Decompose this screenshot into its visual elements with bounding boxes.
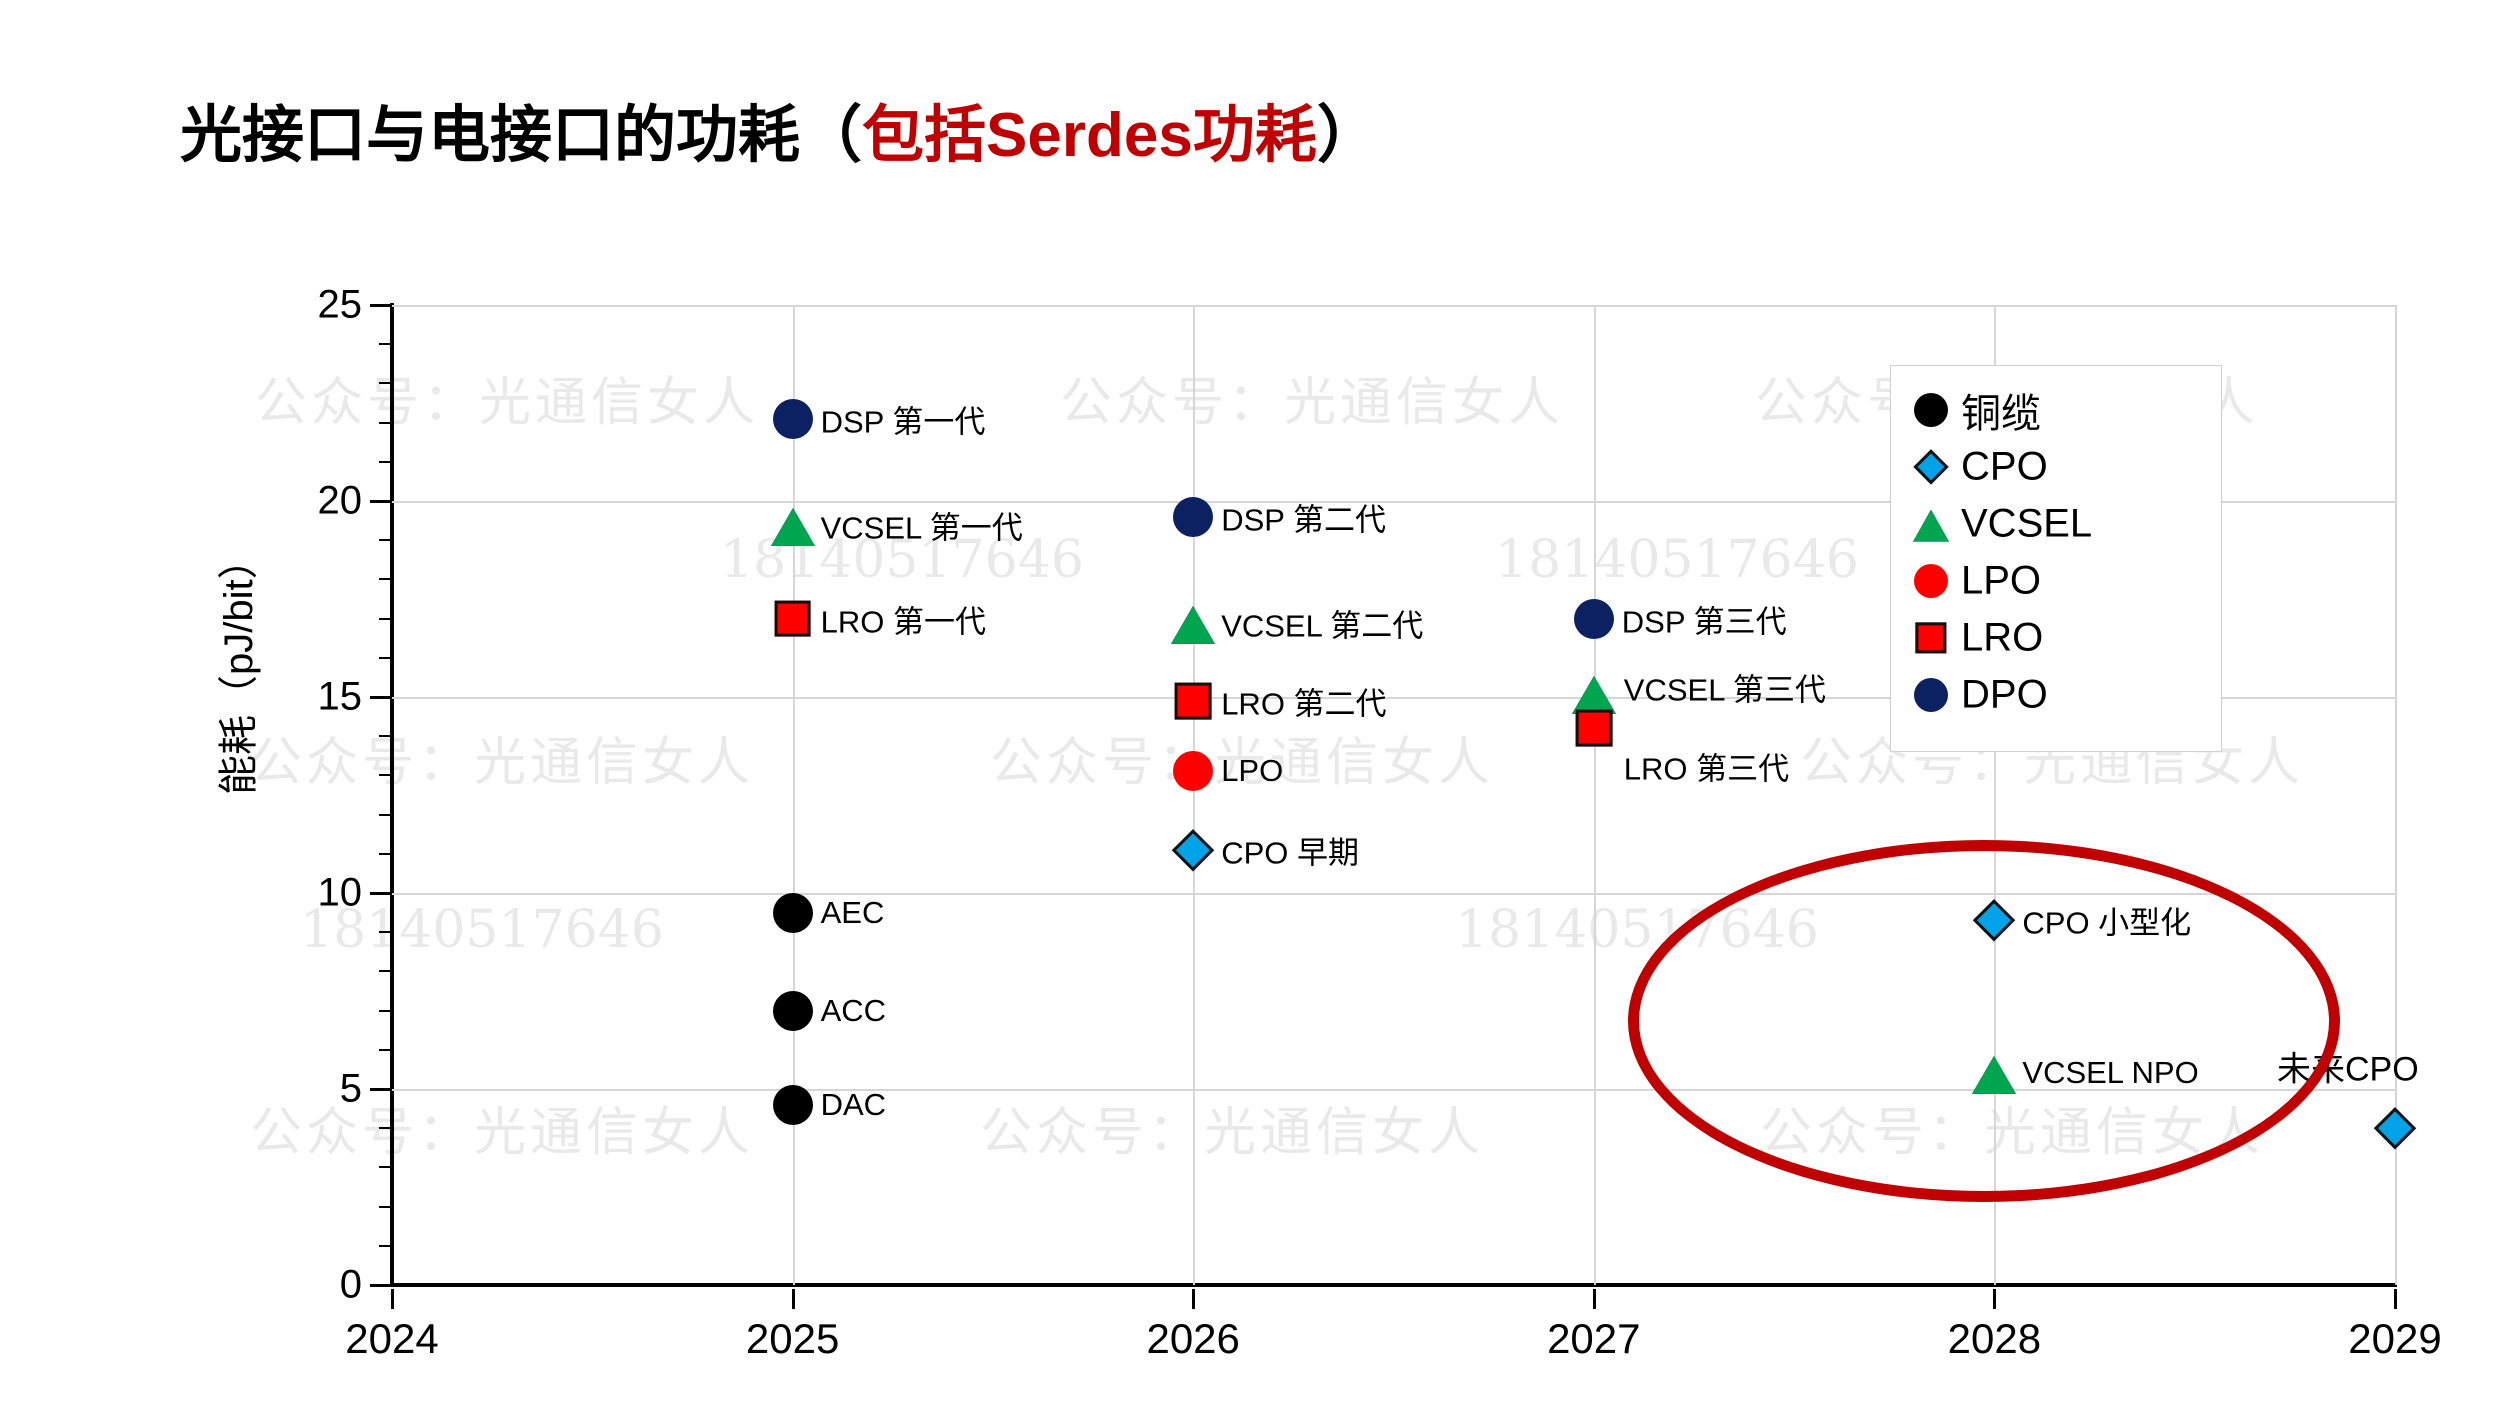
vcsel-triangle-marker-icon <box>1572 676 1616 714</box>
x-axis-tick-label: 2026 <box>1146 1315 1239 1363</box>
y-axis-minor-tick <box>379 774 392 776</box>
x-axis-tick-label: 2027 <box>1547 1315 1640 1363</box>
x-axis-tick <box>1192 1289 1195 1309</box>
y-axis-tick-label: 0 <box>262 1263 362 1308</box>
x-axis-tick-label: 2025 <box>746 1315 839 1363</box>
y-axis-minor-tick <box>379 461 392 463</box>
title-highlight: 包括Serdes功耗 <box>862 101 1317 170</box>
y-axis-minor-tick <box>379 1206 392 1208</box>
title-suffix: ） <box>1317 101 1379 170</box>
legend-label: CPO <box>1961 445 2048 490</box>
lro-square-marker-icon <box>1575 710 1612 747</box>
data-point-label: DSP 第二代 <box>1221 494 1386 539</box>
y-axis-minor-tick <box>379 970 392 972</box>
y-axis-tick-label: 25 <box>262 283 362 328</box>
gridline-vertical <box>1594 305 1596 1285</box>
data-point-label: DSP 第三代 <box>1622 596 1787 641</box>
legend-label: LPO <box>1961 559 2041 604</box>
dpo-circle-marker-icon <box>773 399 813 439</box>
y-axis-tick <box>370 892 392 895</box>
x-axis-tick-label: 2028 <box>1948 1315 2041 1363</box>
gridline-vertical <box>1193 305 1195 1285</box>
legend-item-cpo[interactable]: CPO <box>1891 441 2221 493</box>
x-axis-tick-label: 2029 <box>2348 1315 2441 1363</box>
data-point-label: LPO <box>1221 753 1283 789</box>
data-point-label: AEC <box>821 895 885 931</box>
y-axis-minor-tick <box>379 578 392 580</box>
dpo-circle-marker-icon <box>1173 497 1213 537</box>
page-title: 光接口与电接口的功耗（包括Serdes功耗） <box>180 105 1379 167</box>
legend-item-dpo[interactable]: DPO <box>1891 669 2221 721</box>
y-axis-minor-tick <box>379 539 392 541</box>
legend-label: VCSEL <box>1961 502 2092 547</box>
legend-lro-square-marker-icon <box>1915 622 1946 653</box>
y-axis-minor-tick <box>379 343 392 345</box>
legend-item-lpo[interactable]: LPO <box>1891 555 2221 607</box>
y-axis-tick-label: 20 <box>262 479 362 524</box>
y-axis-tick <box>370 696 392 699</box>
legend-item-vcsel[interactable]: VCSEL <box>1891 498 2221 550</box>
cpo-diamond-marker-icon <box>1172 829 1214 871</box>
x-axis-tick <box>2394 1289 2397 1309</box>
highlight-ellipse-annotation <box>1628 840 2340 1202</box>
y-axis-minor-tick <box>379 1166 392 1168</box>
x-axis-tick <box>1993 1289 1996 1309</box>
data-point-label: VCSEL 第一代 <box>821 502 1023 547</box>
y-axis-tick <box>370 1284 392 1287</box>
chart-legend: 铜缆CPOVCSELLPOLRODPO <box>1890 365 2222 752</box>
legend-label: DPO <box>1961 673 2048 718</box>
legend-label: 铜缆 <box>1961 381 2041 439</box>
gridline-vertical <box>793 305 795 1285</box>
y-axis-title: 能耗（pJ/bit） <box>206 539 264 795</box>
legend-item-lro[interactable]: LRO <box>1891 612 2221 664</box>
y-axis-minor-tick <box>379 422 392 424</box>
data-point-label: LRO 第三代 <box>1624 744 1789 789</box>
y-axis-minor-tick <box>379 1010 392 1012</box>
data-point-label: ACC <box>821 993 886 1029</box>
legend-cpo-diamond-marker-icon <box>1913 449 1949 485</box>
y-axis-minor-tick <box>379 657 392 659</box>
y-axis-tick-label: 10 <box>262 871 362 916</box>
y-axis-minor-tick <box>379 735 392 737</box>
y-axis-minor-tick <box>379 1049 392 1051</box>
y-axis-minor-tick <box>379 618 392 620</box>
y-axis-tick <box>370 500 392 503</box>
legend-dpo-circle-marker-icon <box>1914 678 1948 712</box>
y-axis-tick-label: 15 <box>262 675 362 720</box>
y-axis-tick <box>370 304 392 307</box>
data-point-label: LRO 第二代 <box>1221 678 1386 723</box>
铜缆-circle-marker-icon <box>773 1085 813 1125</box>
x-axis-tick <box>792 1289 795 1309</box>
x-axis-tick <box>1593 1289 1596 1309</box>
data-point-label: DSP 第一代 <box>821 396 986 441</box>
vcsel-triangle-marker-icon <box>1171 605 1215 643</box>
y-axis-minor-tick <box>379 1245 392 1247</box>
lpo-circle-marker-icon <box>1173 751 1213 791</box>
x-axis-tick <box>391 1289 394 1309</box>
data-point-label: DAC <box>821 1087 886 1123</box>
y-axis-minor-tick <box>379 853 392 855</box>
legend-vcsel-triangle-marker-icon <box>1913 510 1949 542</box>
lro-square-marker-icon <box>774 600 811 637</box>
title-prefix: 光接口与电接口的功耗（ <box>180 101 862 170</box>
data-point-label: VCSEL 第二代 <box>1221 600 1423 645</box>
data-point-label: CPO 早期 <box>1221 827 1359 872</box>
铜缆-circle-marker-icon <box>773 991 813 1031</box>
y-axis-tick <box>370 1088 392 1091</box>
legend-label: LRO <box>1961 616 2043 661</box>
y-axis-tick-label: 5 <box>262 1067 362 1112</box>
legend-item-铜缆[interactable]: 铜缆 <box>1891 384 2221 436</box>
y-axis-minor-tick <box>379 931 392 933</box>
cpo-diamond-marker-icon <box>2374 1107 2416 1149</box>
legend-铜缆-circle-marker-icon <box>1914 393 1948 427</box>
y-axis-minor-tick <box>379 814 392 816</box>
x-axis-tick-label: 2024 <box>345 1315 438 1363</box>
lro-square-marker-icon <box>1175 683 1212 720</box>
legend-lpo-circle-marker-icon <box>1914 564 1948 598</box>
data-point-label: VCSEL 第三代 <box>1624 665 1826 710</box>
gridline-horizontal <box>392 305 2395 307</box>
data-point-label: LRO 第一代 <box>821 596 986 641</box>
y-axis-minor-tick <box>379 382 392 384</box>
dpo-circle-marker-icon <box>1574 599 1614 639</box>
y-axis-minor-tick <box>379 1127 392 1129</box>
vcsel-triangle-marker-icon <box>771 507 815 545</box>
铜缆-circle-marker-icon <box>773 893 813 933</box>
